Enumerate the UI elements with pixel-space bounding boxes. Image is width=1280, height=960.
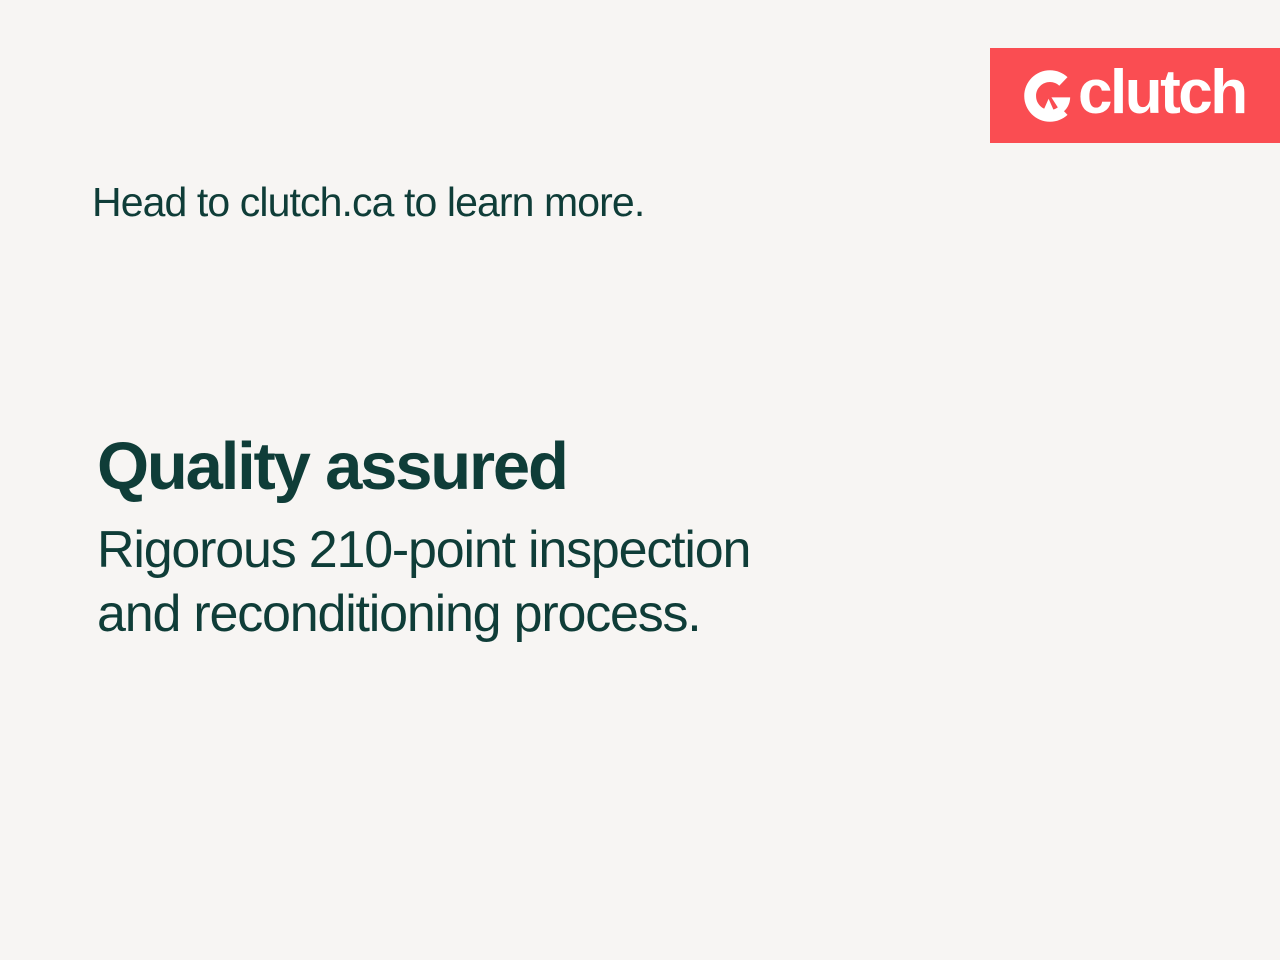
subcopy-line-2: and reconditioning process. xyxy=(97,582,997,646)
slide-content: Head to clutch.ca to learn more. Quality… xyxy=(92,0,1192,960)
tagline-text: Head to clutch.ca to learn more. xyxy=(92,178,644,226)
subcopy-line-1: Rigorous 210-point inspection xyxy=(97,518,997,582)
subcopy: Rigorous 210-point inspection and recond… xyxy=(97,518,997,647)
headline: Quality assured xyxy=(97,430,1097,504)
message-block: Quality assured Rigorous 210-point inspe… xyxy=(97,430,1097,647)
